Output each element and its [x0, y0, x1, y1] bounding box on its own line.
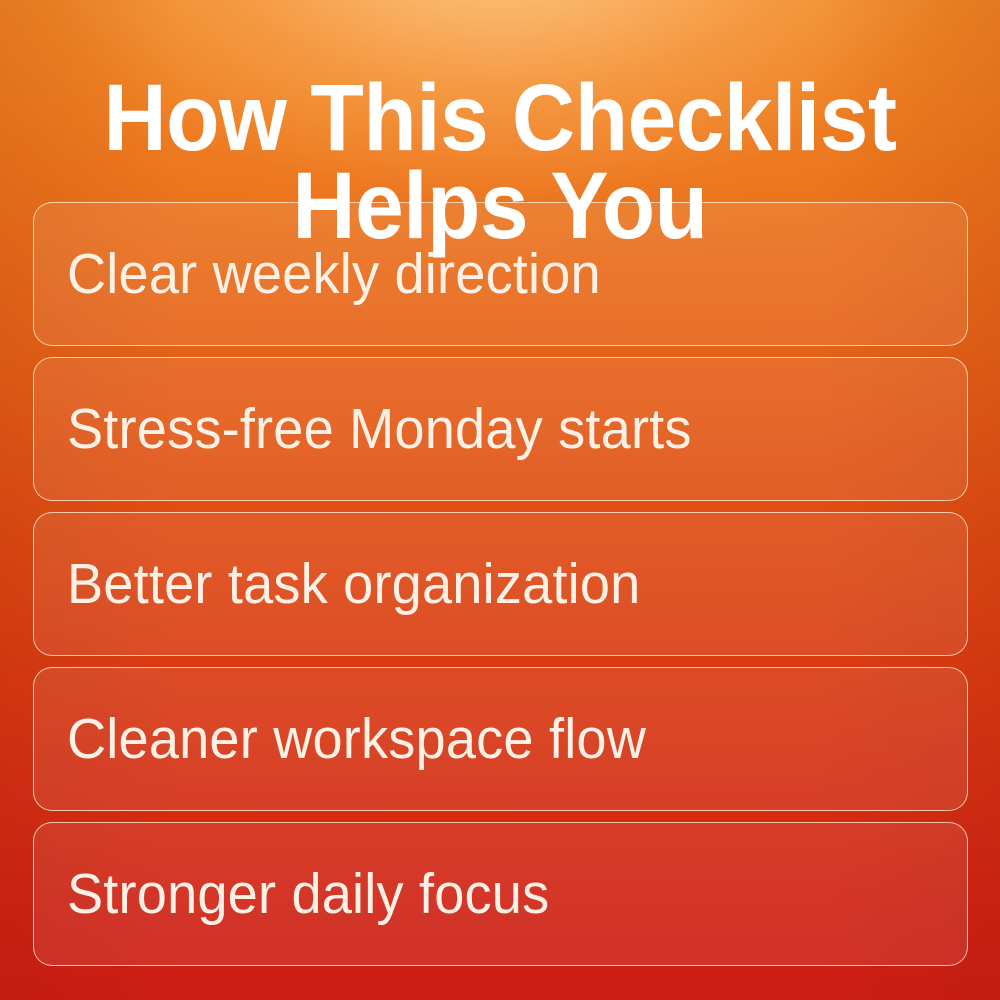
benefit-card-3[interactable]: Better task organization	[33, 512, 968, 656]
poster-canvas: How This Checklist Helps You Clear weekl…	[0, 0, 1000, 1000]
benefit-label: Stronger daily focus	[67, 863, 549, 925]
benefit-card-5[interactable]: Stronger daily focus	[33, 822, 968, 966]
benefit-card-4[interactable]: Cleaner workspace flow	[33, 667, 968, 811]
benefit-label: Stress-free Monday starts	[67, 398, 692, 460]
benefit-label: Cleaner workspace flow	[67, 708, 646, 770]
benefit-card-2[interactable]: Stress-free Monday starts	[33, 357, 968, 501]
benefit-label: Better task organization	[67, 553, 640, 615]
page-title: How This Checklist Helps You	[40, 74, 960, 250]
benefit-card-list: Clear weekly direction Stress-free Monda…	[33, 202, 968, 966]
